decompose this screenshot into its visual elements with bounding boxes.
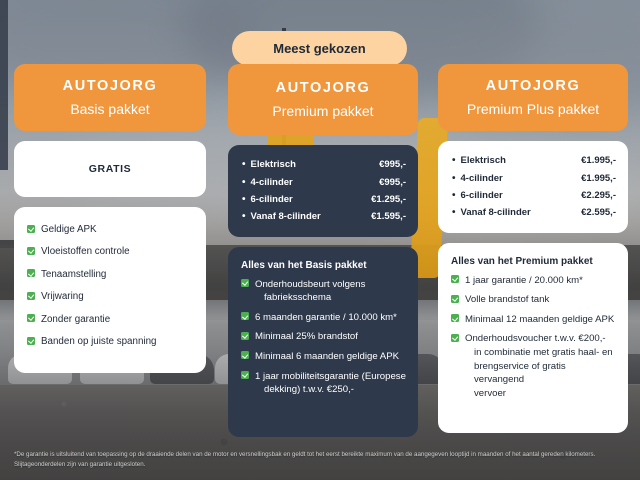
check-icon — [241, 371, 249, 379]
list-item: 1 jaar garantie / 20.000 km* — [451, 274, 616, 288]
check-icon — [241, 332, 249, 340]
check-icon — [27, 269, 35, 277]
plan-card-premium-plus[interactable]: AUTOJORG Premium Plus pakket •Elektrisch… — [438, 64, 628, 433]
check-icon — [27, 337, 35, 345]
price-panel-basis: GRATIS — [14, 141, 206, 197]
list-item: 1 jaar mobiliteitsgarantie (Europese dek… — [241, 370, 406, 397]
list-item: Zonder garantie — [27, 313, 194, 327]
feature-text: 1 jaar garantie / 20.000 km* — [465, 275, 583, 286]
price-label: Vanaf 8-cilinder — [461, 207, 531, 218]
price-amount: €1.995,- — [581, 173, 616, 184]
feature-text: Minimaal 25% brandstof — [255, 331, 358, 342]
bullet-icon: • — [452, 191, 456, 201]
list-item: Banden op juiste spanning — [27, 335, 194, 349]
plan-name: Premium pakket — [238, 103, 408, 119]
feature-text: Geldige APK — [41, 224, 97, 235]
bullet-icon: • — [242, 160, 246, 170]
feature-text: Onderhoudsvoucher t.w.v. €200,- — [465, 333, 606, 344]
price-amount: €2.595,- — [581, 207, 616, 218]
price-label: Elektrisch — [461, 155, 506, 166]
features-panel-basis: Geldige APK Vloeistoffen controle Tenaam… — [14, 207, 206, 373]
most-chosen-badge-label: Meest gekozen — [273, 41, 365, 56]
price-row: •Elektrisch €995,- — [242, 156, 406, 173]
plan-name: Premium Plus pakket — [448, 101, 618, 117]
plan-name: Basis pakket — [24, 101, 196, 117]
bullet-icon: • — [242, 195, 246, 205]
check-icon — [27, 292, 35, 300]
pricing-comparison: Meest gekozen AUTOJORG Basis pakket GRAT… — [0, 0, 640, 480]
price-row: •6-cilinder €1.295,- — [242, 191, 406, 208]
feature-text: Tenaamstelling — [41, 269, 106, 280]
warranty-footnote: *De garantie is uitsluitend van toepassi… — [14, 450, 630, 470]
list-item: Tenaamstelling — [27, 268, 194, 282]
bullet-icon: • — [452, 208, 456, 218]
price-amount: €1.295,- — [371, 194, 406, 205]
bullet-icon: • — [242, 212, 246, 222]
check-icon — [241, 351, 249, 359]
feature-list-premium-plus: 1 jaar garantie / 20.000 km* Volle brand… — [451, 274, 616, 401]
feature-text: Minimaal 12 maanden geldige APK — [465, 314, 614, 325]
check-icon — [451, 334, 459, 342]
feature-text: Vloeistoffen controle — [41, 246, 130, 257]
feature-text: 6 maanden garantie / 10.000 km* — [255, 312, 397, 323]
check-icon — [451, 275, 459, 283]
price-row: •4-cilinder €1.995,- — [452, 169, 616, 186]
price-label: 4-cilinder — [461, 173, 503, 184]
price-row: •Vanaf 8-cilinder €2.595,- — [452, 204, 616, 221]
plan-header-premium: AUTOJORG Premium pakket — [228, 64, 418, 135]
list-item: Minimaal 6 maanden geldige APK — [241, 350, 406, 364]
plan-header-basis: AUTOJORG Basis pakket — [14, 64, 206, 131]
feature-text-continued: in combinatie met gratis haal- en — [465, 346, 616, 360]
feature-text: Onderhoudsbeurt volgens — [255, 279, 365, 290]
bullet-icon: • — [242, 178, 246, 188]
price-amount: €1.995,- — [581, 155, 616, 166]
price-label: Vanaf 8-cilinder — [251, 211, 321, 222]
price-row: •4-cilinder €995,- — [242, 173, 406, 190]
price-row: •Elektrisch €1.995,- — [452, 152, 616, 169]
price-label: 4-cilinder — [251, 177, 293, 188]
feature-text: 1 jaar mobiliteitsgarantie (Europese — [255, 371, 406, 382]
list-item: 6 maanden garantie / 10.000 km* — [241, 311, 406, 325]
price-amount: €995,- — [379, 159, 406, 170]
bullet-icon: • — [452, 174, 456, 184]
plan-brand: AUTOJORG — [24, 78, 196, 94]
features-title: Alles van het Premium pakket — [451, 256, 616, 267]
check-icon — [27, 247, 35, 255]
list-item: Minimaal 12 maanden geldige APK — [451, 313, 616, 327]
price-row: •6-cilinder €2.295,- — [452, 187, 616, 204]
plan-brand: AUTOJORG — [238, 80, 408, 96]
plan-brand: AUTOJORG — [448, 78, 618, 94]
list-item: Geldige APK — [27, 223, 194, 237]
plan-header-premium-plus: AUTOJORG Premium Plus pakket — [438, 64, 628, 131]
price-amount: €2.295,- — [581, 190, 616, 201]
check-icon — [451, 314, 459, 322]
list-item: Minimaal 25% brandstof — [241, 330, 406, 344]
price-panel-premium-plus: •Elektrisch €1.995,- •4-cilinder €1.995,… — [438, 141, 628, 233]
bullet-icon: • — [452, 156, 456, 166]
feature-text: Minimaal 6 maanden geldige APK — [255, 351, 399, 362]
list-item: Vrijwaring — [27, 290, 194, 304]
price-list-premium-plus: •Elektrisch €1.995,- •4-cilinder €1.995,… — [438, 141, 628, 233]
price-free-label: GRATIS — [14, 141, 206, 197]
feature-text: Banden op juiste spanning — [41, 336, 156, 347]
feature-text-continued: fabrieksschema — [255, 291, 406, 305]
price-list-premium: •Elektrisch €995,- •4-cilinder €995,- •6… — [228, 145, 418, 237]
price-amount: €995,- — [379, 177, 406, 188]
list-item: Vloeistoffen controle — [27, 245, 194, 259]
feature-text: Volle brandstof tank — [465, 294, 549, 305]
feature-text-continued: dekking) t.w.v. €250,- — [255, 383, 406, 397]
price-row: •Vanaf 8-cilinder €1.595,- — [242, 208, 406, 225]
feature-text-continued: brengservice of gratis vervangend — [465, 360, 616, 387]
price-amount: €1.595,- — [371, 211, 406, 222]
plan-card-basis[interactable]: AUTOJORG Basis pakket GRATIS Geldige APK… — [14, 64, 206, 373]
price-label: 6-cilinder — [251, 194, 293, 205]
feature-text: Vrijwaring — [41, 291, 84, 302]
price-panel-premium: •Elektrisch €995,- •4-cilinder €995,- •6… — [228, 145, 418, 237]
price-label: Elektrisch — [251, 159, 296, 170]
features-title: Alles van het Basis pakket — [241, 260, 406, 271]
features-panel-premium: Alles van het Basis pakket Onderhoudsbeu… — [228, 247, 418, 437]
list-item: Volle brandstof tank — [451, 293, 616, 307]
check-icon — [241, 279, 249, 287]
most-chosen-badge: Meest gekozen — [232, 31, 407, 66]
check-icon — [241, 312, 249, 320]
check-icon — [27, 314, 35, 322]
feature-text: Zonder garantie — [41, 314, 110, 325]
price-label: 6-cilinder — [461, 190, 503, 201]
feature-text-continued: vervoer — [465, 387, 616, 401]
plan-card-premium[interactable]: AUTOJORG Premium pakket •Elektrisch €995… — [228, 64, 418, 437]
check-icon — [27, 225, 35, 233]
list-item: Onderhoudsbeurt volgens fabrieksschema — [241, 278, 406, 305]
feature-list-premium: Onderhoudsbeurt volgens fabrieksschema 6… — [241, 278, 406, 397]
list-item: Onderhoudsvoucher t.w.v. €200,- in combi… — [451, 332, 616, 400]
check-icon — [451, 295, 459, 303]
features-panel-premium-plus: Alles van het Premium pakket 1 jaar gara… — [438, 243, 628, 433]
feature-list-basis: Geldige APK Vloeistoffen controle Tenaam… — [27, 223, 194, 349]
